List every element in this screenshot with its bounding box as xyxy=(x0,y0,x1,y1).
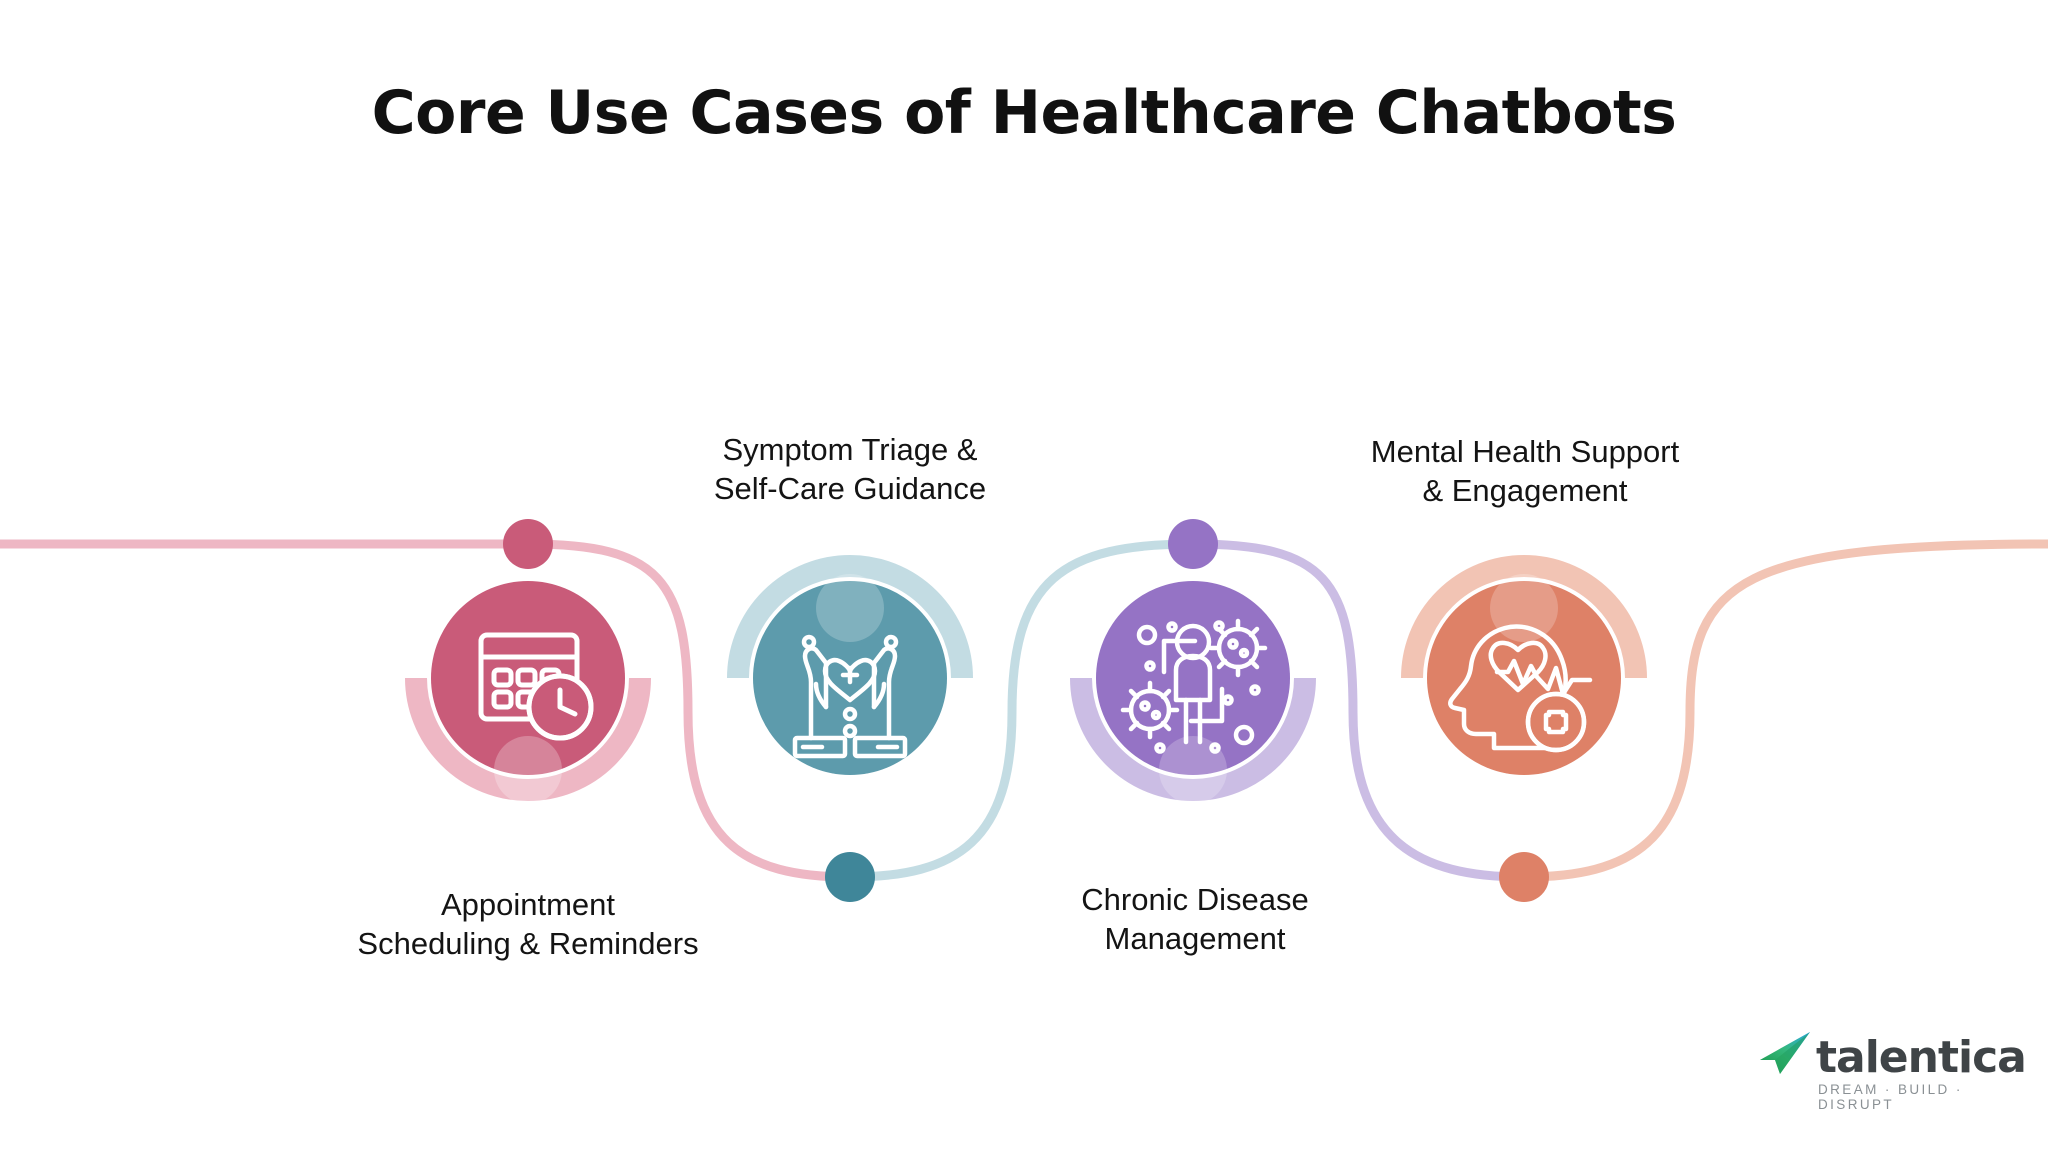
track-dot-mental xyxy=(1499,852,1549,902)
node-label-chronic-disease: Chronic Disease Management xyxy=(1010,880,1380,958)
track-dot-chronic xyxy=(1168,519,1218,569)
infographic-canvas: Core Use Cases of Healthcare Chatbots xyxy=(0,0,2048,1152)
node-mental-health[interactable] xyxy=(1412,566,1636,902)
track-dot-symptom xyxy=(825,852,875,902)
node-chronic-disease[interactable] xyxy=(1081,519,1305,804)
node-label-symptom-triage: Symptom Triage & Self-Care Guidance xyxy=(660,430,1040,508)
diagram-svg xyxy=(0,0,2048,1152)
connector-track xyxy=(0,544,2048,877)
node-accent-dot xyxy=(494,736,562,804)
node-label-mental-health: Mental Health Support & Engagement xyxy=(1330,432,1720,510)
node-label-appointment-scheduling: Appointment Scheduling & Reminders xyxy=(300,885,756,963)
node-symptom-triage[interactable] xyxy=(738,566,962,902)
node-accent-dot xyxy=(816,574,884,642)
talentica-logo[interactable]: talentica DREAM · BUILD · DISRUPT xyxy=(1758,1028,1988,1106)
logo-tagline: DREAM · BUILD · DISRUPT xyxy=(1818,1082,1988,1112)
track-dot-appointment xyxy=(503,519,553,569)
node-appointment-scheduling[interactable] xyxy=(416,519,640,804)
logo-wordmark: talentica xyxy=(1816,1032,2026,1083)
paper-plane-icon xyxy=(1758,1030,1814,1076)
